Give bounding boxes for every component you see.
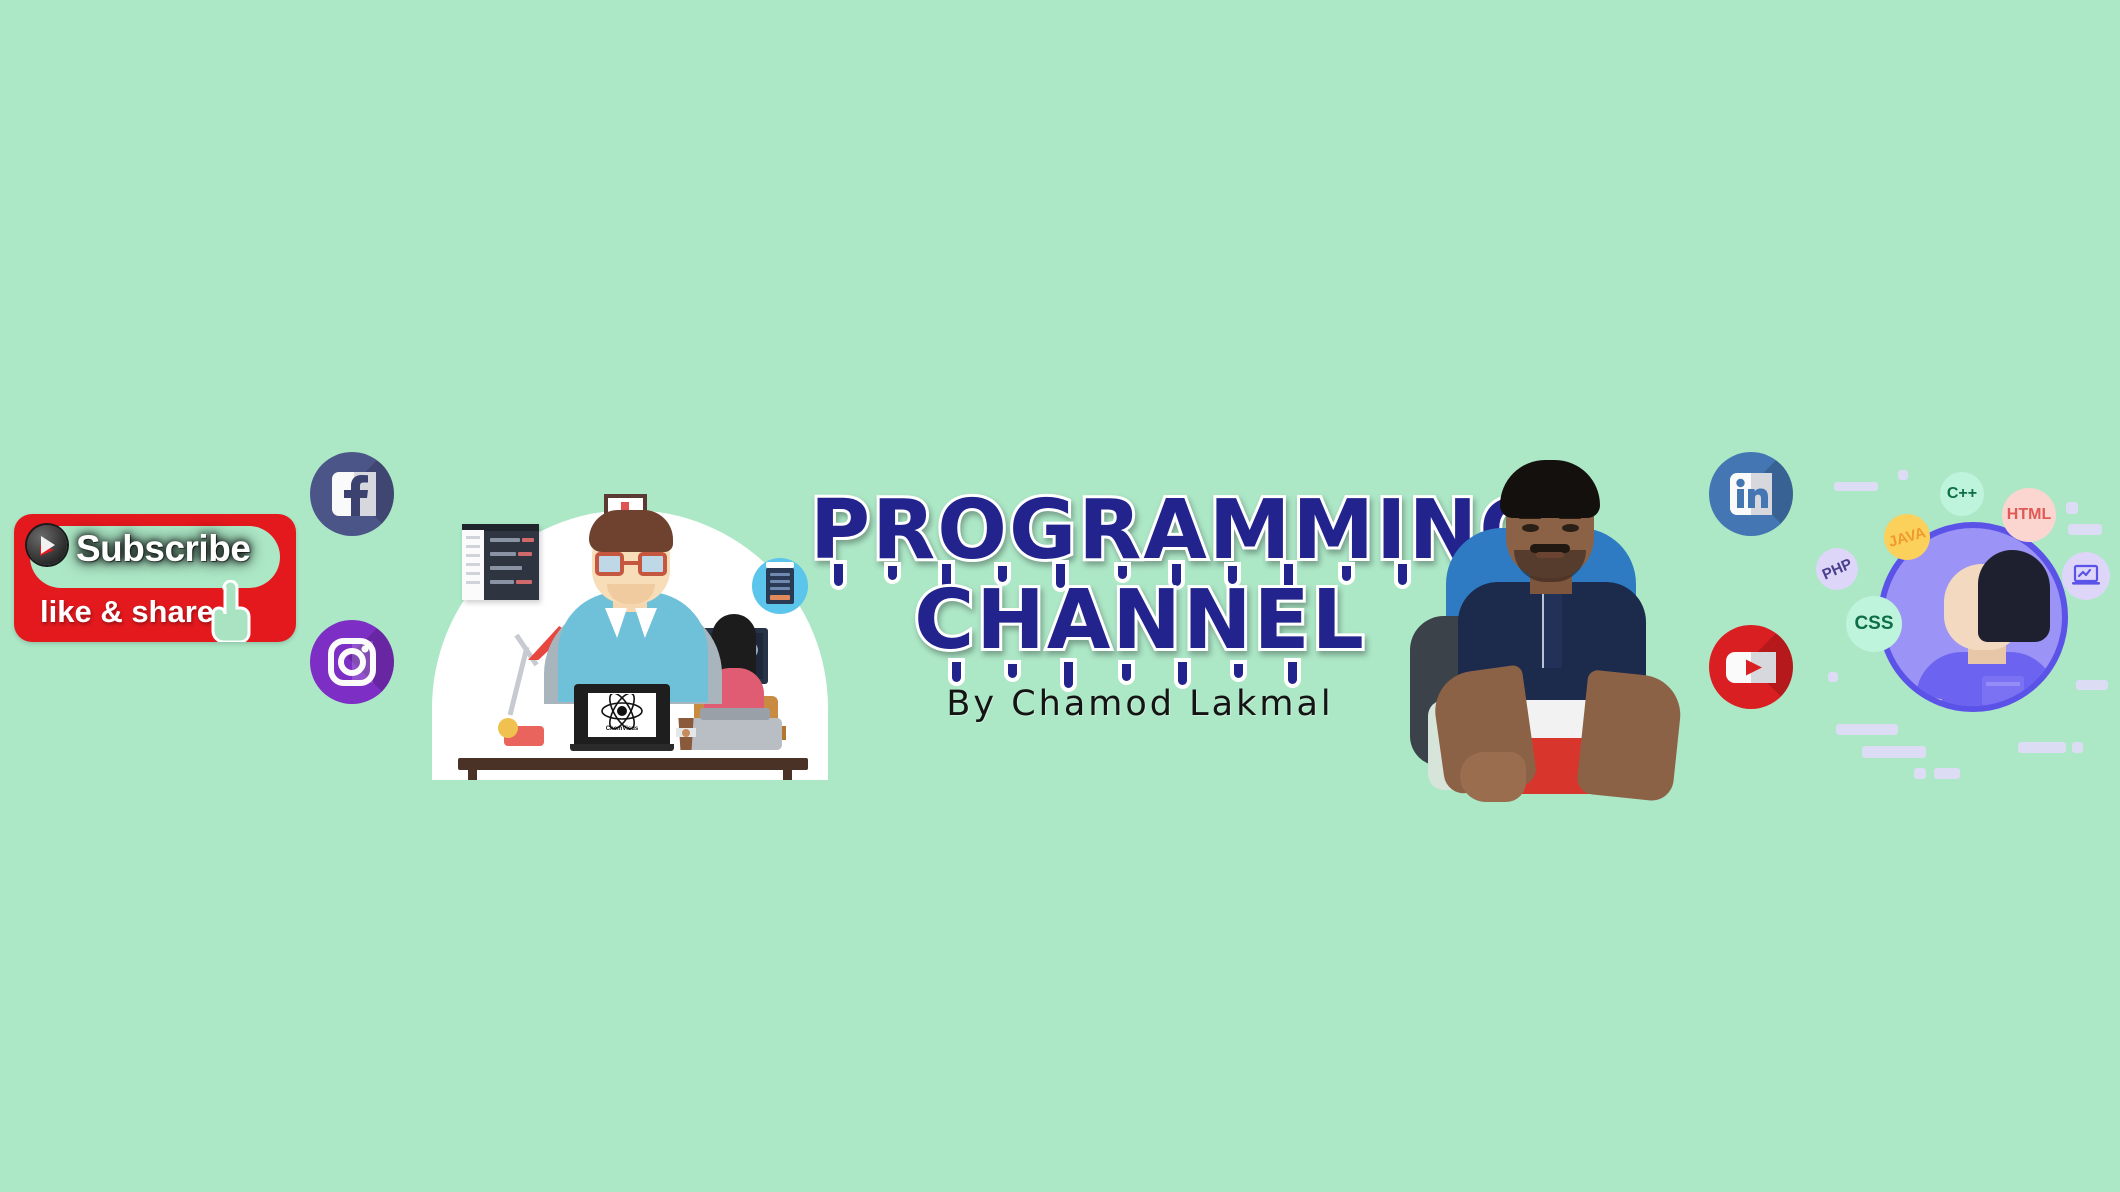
developer-hair [589, 510, 673, 552]
subscribe-button[interactable]: Subscribe like & share [14, 514, 296, 642]
skill-bubble-css-label: CSS [1854, 613, 1893, 635]
channel-title-block: PROGRAMMING CHANNEL [810, 490, 1470, 724]
person-arm-right [1576, 669, 1684, 802]
person-eye-left [1522, 524, 1539, 532]
deco-square [1914, 768, 1926, 779]
deco-square [2072, 742, 2083, 753]
person-eye-right [1562, 524, 1579, 532]
instagram-icon[interactable] [310, 620, 394, 704]
desk-leg-right [783, 768, 792, 780]
coffee-cup-logo [682, 729, 690, 737]
glasses-icon [595, 552, 667, 576]
deco-bar [1934, 768, 1960, 779]
printer-top [700, 708, 770, 720]
laptop-icon [2071, 564, 2101, 588]
skill-bubble-cpp-label: C++ [1947, 485, 1977, 503]
code-editor-icon [462, 524, 539, 600]
deco-square [1828, 672, 1838, 682]
deco-bar [2076, 680, 2108, 690]
deco-bar [2068, 524, 2102, 535]
skill-bubble-java-label: JAVA [1886, 524, 1927, 551]
person-hand-left [1460, 752, 1526, 802]
skill-bubble-html: HTML [2002, 488, 2056, 542]
youtube-channel-banner: Subscribe like & share [0, 0, 2120, 1192]
skill-bubble-laptop [2062, 552, 2110, 600]
avatar-hair [1978, 550, 2050, 642]
deco-square [1898, 470, 1908, 480]
hand-pointer-icon [207, 580, 253, 642]
deco-bar [1834, 482, 1878, 491]
skill-bubble-css: CSS [1846, 596, 1902, 652]
avatar-shirt-pocket [1982, 676, 2024, 706]
laptop-base [570, 744, 674, 751]
laptop-logo-text: ChemVisus [606, 726, 639, 732]
channel-byline: By Chamod Lakmal [810, 684, 1470, 724]
subscribe-label: Subscribe [76, 528, 250, 570]
channel-owner-photo [1402, 452, 1702, 812]
facebook-icon[interactable] [310, 452, 394, 536]
person-hair [1500, 460, 1600, 518]
desk-ball-decoration [498, 718, 518, 738]
title-line-2: CHANNEL [810, 580, 1470, 662]
developer-skills-illustration: JAVA C++ HTML PHP CSS [1790, 440, 2120, 790]
linkedin-icon[interactable] [1709, 452, 1793, 536]
laptop-screen: ChemVisus [588, 693, 656, 737]
skill-bubble-php: PHP [1809, 541, 1864, 596]
like-share-label: like & share [40, 594, 214, 630]
deco-bar [2018, 742, 2066, 753]
skill-bubble-html-label: HTML [2007, 506, 2051, 524]
title-line-1: PROGRAMMING [810, 490, 1470, 572]
desk-leg-left [468, 768, 477, 780]
deco-bar [1862, 746, 1926, 758]
skill-bubble-php-label: PHP [1819, 555, 1854, 583]
youtube-icon[interactable] [1709, 625, 1793, 709]
skill-bubble-cpp: C++ [1940, 472, 1984, 516]
document-bubble-icon [752, 558, 808, 614]
desk-surface [458, 758, 808, 770]
deco-bar [1836, 724, 1898, 735]
shirt-placket [1542, 586, 1562, 668]
atom-icon: ChemVisus [599, 694, 645, 734]
person-mouth [1536, 552, 1564, 558]
play-icon [27, 525, 67, 565]
deco-square [2066, 502, 2078, 514]
laptop-icon: ChemVisus [574, 684, 670, 750]
programmer-at-desk-illustration: ChemVisus [432, 480, 828, 780]
printer-icon [688, 718, 782, 750]
play-triangle-icon [40, 545, 54, 556]
